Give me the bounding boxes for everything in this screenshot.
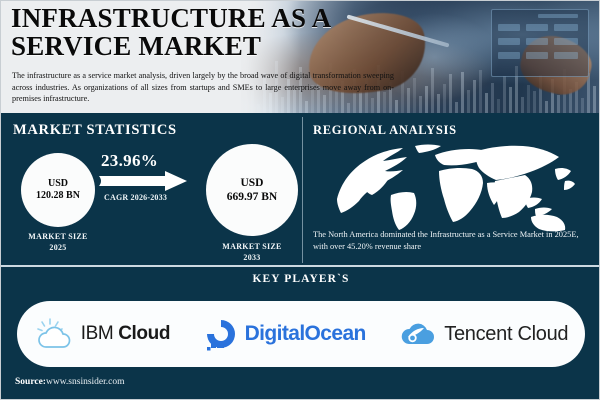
market-statistics-heading: MARKET STATISTICS (13, 122, 177, 139)
ibm-cloud-icon (34, 317, 74, 351)
market-size-2025-currency: USD (36, 178, 80, 191)
market-size-2025-caption: MARKET SIZE 2025 (7, 232, 109, 254)
tencent-cloud-icon (399, 319, 437, 349)
regional-analysis-text: The North America dominated the Infrastr… (313, 229, 591, 253)
page-title-line-2: SERVICE MARKET (11, 33, 401, 61)
market-size-2025-value: 120.28 BN (36, 190, 80, 203)
cagr-percentage: 23.96% (101, 151, 158, 171)
growth-arrow-icon (99, 171, 187, 191)
key-players-heading: KEY PLAYER`S (1, 273, 600, 285)
logo-ibm-cloud-text: IBM Cloud (81, 323, 170, 345)
photo-dashboard-panel (491, 9, 589, 77)
cagr-label: CAGR 2026-2033 (104, 193, 167, 202)
page-title-line-1: INFRASTRUCTURE AS A (11, 3, 331, 33)
logo-tencent-cloud[interactable]: Tencent Cloud (399, 319, 568, 349)
key-players-card: IBM Cloud DigitalOcean Tencent Cloud (17, 301, 585, 367)
market-size-2025-caption-label: MARKET SIZE (7, 232, 109, 243)
header-description: The infrastructure as a service market a… (12, 70, 394, 105)
market-size-2033-currency: USD (227, 176, 277, 190)
page-title: INFRASTRUCTURE AS A SERVICE MARKET (11, 5, 401, 61)
market-size-2033-caption-year: 2033 (201, 253, 303, 264)
source-line: Source:www.snsinsider.com (15, 377, 125, 387)
source-label: Source: (15, 377, 46, 387)
regional-analysis-heading: REGIONAL ANALYSIS (313, 123, 457, 138)
logo-ibm-product: Cloud (118, 323, 170, 344)
market-size-2025-bubble: USD 120.28 BN (21, 153, 95, 227)
market-size-2033-caption: MARKET SIZE 2033 (201, 242, 303, 264)
infographic-root: INFRASTRUCTURE AS A SERVICE MARKET The i… (0, 0, 600, 400)
world-map-icon (319, 137, 581, 233)
logo-digitalocean[interactable]: DigitalOcean (204, 317, 366, 351)
market-size-2025-caption-year: 2025 (7, 243, 109, 254)
market-size-2033-caption-label: MARKET SIZE (201, 242, 303, 253)
logo-digitalocean-text: DigitalOcean (245, 322, 366, 346)
digitalocean-icon (204, 317, 238, 351)
logo-ibm-brand: IBM (81, 323, 114, 344)
logo-ibm-cloud[interactable]: IBM Cloud (34, 317, 170, 351)
logo-tencent-cloud-text: Tencent Cloud (444, 323, 568, 346)
header-banner: INFRASTRUCTURE AS A SERVICE MARKET The i… (1, 1, 600, 113)
market-size-2033-bubble: USD 669.97 BN (206, 144, 298, 236)
market-size-2033-value: 669.97 BN (227, 190, 277, 204)
source-url[interactable]: www.snsinsider.com (46, 377, 125, 387)
